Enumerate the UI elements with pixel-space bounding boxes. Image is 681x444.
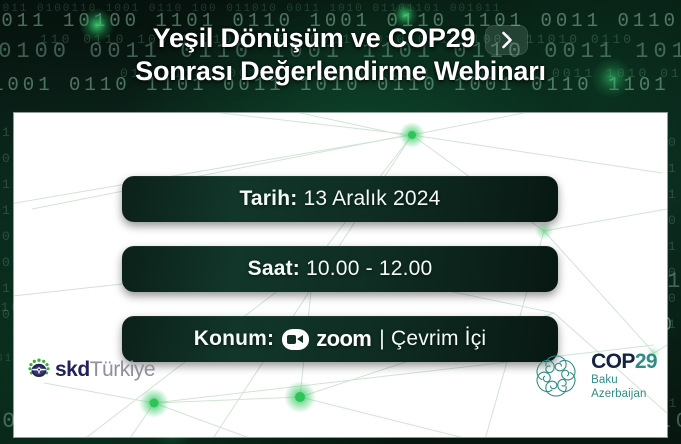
pill-time-content: Saat: 10.00 - 12.00: [248, 257, 433, 281]
header-banner: Yeşil Dönüşüm ve COP29 Sonrası Değerlend…: [0, 0, 681, 110]
zoom-camera-icon: [282, 329, 309, 350]
zoom-wordmark: zoom: [316, 326, 371, 352]
page-title-line-2: Sonrası Değerlendirme Webinarı: [0, 55, 681, 88]
cop29-subtitle-line-1: Baku: [591, 374, 657, 386]
cop29-subtitle-line-2: Azerbaijan: [591, 388, 657, 400]
pill-time-value: 10.00 - 12.00: [306, 257, 432, 280]
page-title-line-1: Yeşil Dönüşüm ve COP29: [153, 22, 476, 55]
content-card: Tarih: 13 Aralık 2024 Saat: 10.00 - 12.0…: [14, 113, 667, 437]
cop29-name: COP: [591, 350, 635, 373]
pill-location-content: Konum: zoom | Çevrim İçi: [194, 326, 487, 352]
pill-location-label: Konum:: [194, 327, 275, 351]
pill-time-label: Saat:: [248, 257, 300, 280]
zoom-logo: zoom: [282, 326, 371, 352]
pill-date-label: Tarih:: [239, 187, 297, 210]
chevron-right-icon[interactable]: [485, 25, 528, 55]
pill-date-content: Tarih: 13 Aralık 2024: [239, 187, 440, 211]
cop29-name-row: COP29: [591, 351, 657, 372]
header-title-block: Yeşil Dönüşüm ve COP29 Sonrası Değerlend…: [0, 22, 681, 88]
skd-name-bold: skd: [55, 358, 90, 381]
cop29-floral-wreath-icon: [529, 353, 583, 399]
pill-location-value: | Çevrim İçi: [379, 327, 486, 351]
pill-date-value: 13 Aralık 2024: [303, 187, 440, 210]
skd-flower-icon: [28, 358, 50, 380]
title-row-1: Yeşil Dönüşüm ve COP29: [153, 22, 529, 55]
webinar-announcement-slide: 1011 0100110 1001 0110 100 011010 0011 1…: [0, 0, 681, 444]
cop29-number: 29: [635, 350, 657, 373]
skd-wordmark: skdTürkiye: [55, 359, 155, 380]
detail-pill-time: Saat: 10.00 - 12.00: [122, 246, 558, 292]
detail-pill-location: Konum: zoom | Çevrim İçi: [122, 316, 558, 362]
cop29-wordmark: COP29 Baku Azerbaijan: [591, 351, 657, 400]
skd-name-light: Türkiye: [90, 358, 155, 381]
cop29-logo: COP29 Baku Azerbaijan: [529, 351, 657, 400]
detail-pill-date: Tarih: 13 Aralık 2024: [122, 176, 558, 222]
skd-turkiye-logo: skdTürkiye: [28, 358, 155, 380]
